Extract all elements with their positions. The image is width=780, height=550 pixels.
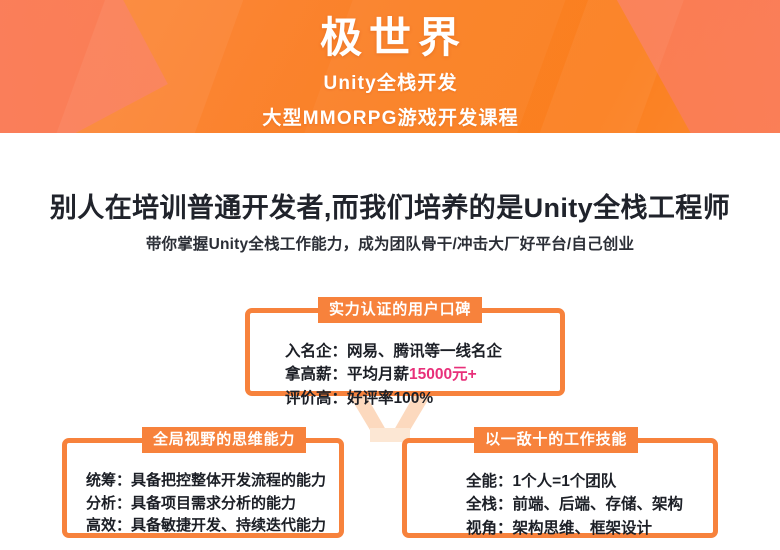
card-title-tab: 实力认证的用户口碑 [318, 297, 482, 323]
card-user-reputation: 实力认证的用户口碑 入名企：网易、腾讯等一线名企 拿高薪：平均月薪15000元+… [245, 297, 565, 396]
card-row: 高效：具备敏捷开发、持续迭代能力 [86, 515, 344, 538]
card-row: 拿高薪：平均月薪15000元+ [285, 363, 565, 386]
row-label: 评价高： [285, 390, 347, 407]
card-row: 视角：架构思维、框架设计 [466, 517, 718, 540]
brand-subtitle-line-2: 大型MMORPG游戏开发课程 [261, 103, 519, 130]
card-row: 统筹：具备把控整体开发流程的能力 [86, 470, 344, 493]
card-work-skills: 以一敌十的工作技能 全能：1个人=1个团队 全栈：前端、后端、存储、架构 视角：… [402, 427, 718, 538]
row-label: 统筹： [86, 472, 131, 489]
brand-title: 极世界 [313, 13, 467, 63]
card-title-tab: 全局视野的思维能力 [142, 427, 306, 453]
row-label: 入名企： [285, 343, 347, 360]
card-row: 全能：1个人=1个团队 [466, 470, 718, 493]
row-accent-value: 15000元+ [409, 366, 477, 383]
row-label: 全栈： [466, 496, 513, 513]
card-content: 统筹：具备把控整体开发流程的能力 分析：具备项目需求分析的能力 高效：具备敏捷开… [62, 470, 344, 538]
card-row: 评价高：好评率100% [285, 387, 565, 410]
card-content: 全能：1个人=1个团队 全栈：前端、后端、存储、架构 视角：架构思维、框架设计 [402, 470, 718, 540]
card-title-tab: 以一敌十的工作技能 [474, 427, 638, 453]
row-value: 网易、腾讯等一线名企 [347, 343, 502, 360]
row-value: 架构思维、框架设计 [513, 520, 653, 537]
row-value: 具备敏捷开发、持续迭代能力 [131, 517, 326, 534]
card-row: 入名企：网易、腾讯等一线名企 [285, 340, 565, 363]
banner-content: 极世界 Unity全栈开发 大型MMORPG游戏开发课程 [0, 0, 780, 133]
card-row: 分析：具备项目需求分析的能力 [86, 493, 344, 516]
row-value: 具备把控整体开发流程的能力 [131, 472, 326, 489]
brand-subtitle-line-1: Unity全栈开发 [322, 68, 458, 95]
row-label: 视角： [466, 520, 513, 537]
card-content: 入名企：网易、腾讯等一线名企 拿高薪：平均月薪15000元+ 评价高：好评率10… [245, 340, 565, 410]
row-value: 前端、后端、存储、架构 [513, 496, 684, 513]
card-row: 全栈：前端、后端、存储、架构 [466, 493, 718, 516]
row-value: 好评率100% [347, 390, 433, 407]
row-value: 平均月薪 [347, 366, 409, 383]
row-label: 拿高薪： [285, 366, 347, 383]
row-label: 高效： [86, 517, 131, 534]
page-headline: 别人在培训普通开发者,而我们培养的是Unity全栈工程师 [0, 186, 780, 225]
row-value: 具备项目需求分析的能力 [131, 495, 296, 512]
page-subheadline: 带你掌握Unity全栈工作能力，成为团队骨干/冲击大厂好平台/自己创业 [0, 232, 780, 254]
row-value: 1个人=1个团队 [513, 473, 617, 490]
row-label: 全能： [466, 473, 513, 490]
hero-banner: 极世界 Unity全栈开发 大型MMORPG游戏开发课程 [0, 0, 780, 133]
card-global-thinking: 全局视野的思维能力 统筹：具备把控整体开发流程的能力 分析：具备项目需求分析的能… [62, 427, 344, 538]
row-label: 分析： [86, 495, 131, 512]
page-root: 极世界 Unity全栈开发 大型MMORPG游戏开发课程 别人在培训普通开发者,… [0, 0, 780, 550]
